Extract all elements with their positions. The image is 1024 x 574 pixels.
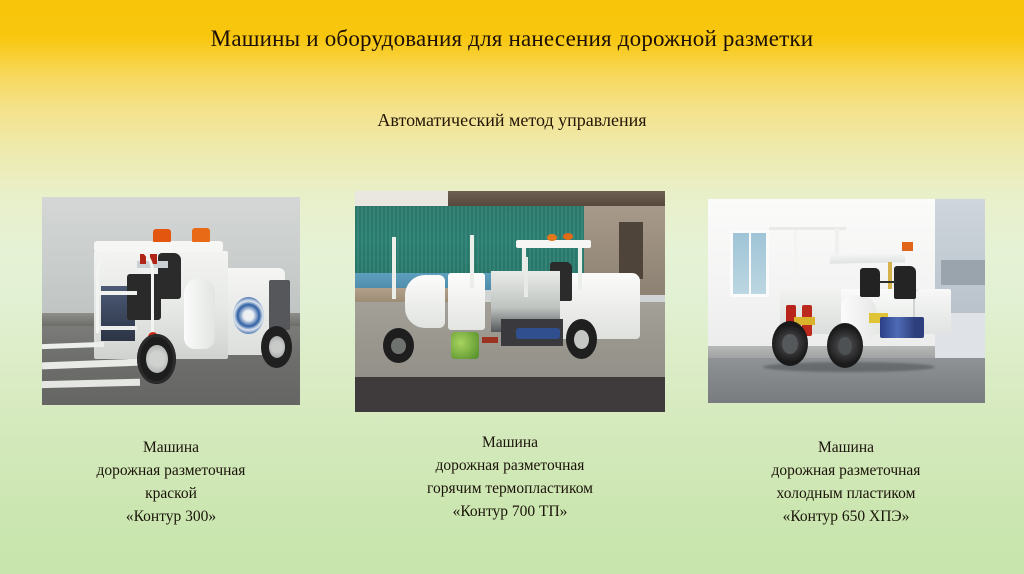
page-title: Машины и оборудования для нанесения доро… <box>0 26 1024 52</box>
road-marking-machine-cold-plastic-photo <box>708 199 985 403</box>
caption-line: дорожная разметочная <box>36 460 306 483</box>
caption-line: Машина <box>36 437 306 460</box>
photo2-front-tank <box>405 275 445 328</box>
photo-caption-paint: Машина дорожная разметочная краской «Кон… <box>36 437 306 529</box>
photo3-steering-wheel <box>880 281 897 284</box>
photo1-canopy <box>94 241 223 252</box>
caption-line: дорожная разметочная <box>700 460 992 483</box>
caption-line: «Контур 300» <box>36 506 306 529</box>
photo2-canopy <box>516 240 590 249</box>
caption-line: «Контур 650 ХПЭ» <box>700 506 992 529</box>
photo3-operator-seat <box>894 266 916 299</box>
photo2-canopy-post <box>578 246 582 290</box>
photo3-window <box>730 230 769 297</box>
photo2-front-wheel <box>383 328 414 363</box>
caption-line: краской <box>36 483 306 506</box>
caption-line: Машина <box>700 437 992 460</box>
photo3-shed-roof <box>941 260 985 284</box>
photo3-beacon-light <box>902 242 913 251</box>
photo1-beacon-light <box>153 229 171 241</box>
photo2-green-drum <box>451 332 479 359</box>
photo3-front-wheel <box>772 321 808 366</box>
photo3-operator-seat <box>860 268 879 297</box>
caption-line: «Контур 700 ТП» <box>350 501 670 524</box>
road-marking-machine-thermoplastic-photo <box>355 191 665 412</box>
photo1-front-wheel <box>137 334 176 384</box>
road-marking-machine-paint-photo <box>42 197 300 405</box>
photo2-ground-shadow <box>355 377 665 412</box>
photo1-rear-wheel <box>261 326 292 368</box>
photo2-beacon-light <box>563 233 573 240</box>
photo1-frame-arch <box>96 243 154 333</box>
photo1-rear-panel <box>269 280 290 330</box>
photo2-blue-hose <box>516 328 559 339</box>
caption-line: дорожная разметочная <box>350 455 670 478</box>
caption-line: Машина <box>350 432 670 455</box>
photo2-guide-mast <box>392 237 396 299</box>
photo-caption-cold-plastic: Машина дорожная разметочная холодным пла… <box>700 437 992 529</box>
caption-line: холодным пластиком <box>700 483 992 506</box>
photo1-operator-seat <box>158 253 181 299</box>
photo-caption-thermoplastic: Машина дорожная разметочная горячим терм… <box>350 432 670 524</box>
photo2-doorway <box>619 222 644 279</box>
photo2-guide-mast <box>470 235 474 288</box>
photo2-red-fitting <box>482 337 498 344</box>
caption-line: горячим термопластиком <box>350 478 670 501</box>
photo1-beacon-light <box>192 228 210 242</box>
photo1-hose-reel <box>233 297 264 334</box>
page-subtitle: Автоматический метод управления <box>0 110 1024 131</box>
photo1-paint-tank <box>184 278 215 349</box>
photo2-guide-mast <box>524 257 528 297</box>
photo2-rear-wheel <box>566 319 597 359</box>
photo3-canopy <box>830 253 905 264</box>
presentation-slide: Машины и оборудования для нанесения доро… <box>0 0 1024 574</box>
photo3-applicator-unit <box>880 317 924 337</box>
photo2-thermoplastic-tank <box>448 273 485 330</box>
